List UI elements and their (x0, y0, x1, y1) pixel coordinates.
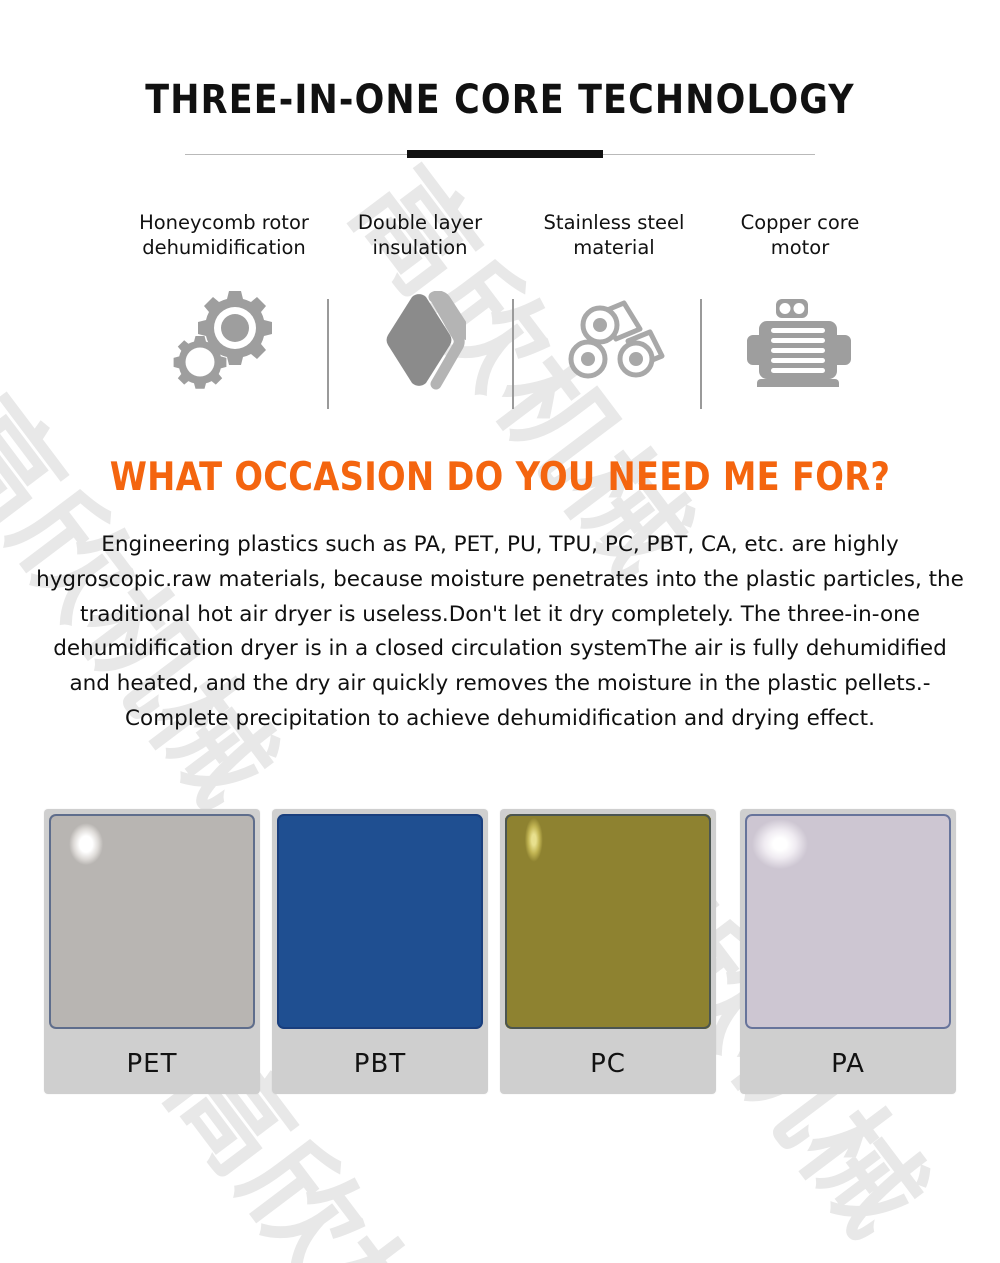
material-card-pbt[interactable]: PBT (272, 809, 488, 1094)
pellet-texture-pc (505, 814, 711, 1029)
feature-item-honeycomb-rotor: Honeycomb rotor dehumidification (104, 211, 344, 399)
occasion-heading: WHAT OCCASION DO YOU NEED ME FOR? (20, 455, 980, 500)
material-cards-row: PET PBT PC PA (0, 809, 1000, 1099)
stacked-pipes-icon (514, 287, 714, 399)
material-card-label: PBT (272, 1034, 488, 1094)
title-block: THREE-IN-ONE CORE TECHNOLOGY (0, 0, 1000, 159)
feature-item-copper-core-motor: Copper core motor (712, 211, 888, 399)
material-photo (745, 814, 951, 1029)
material-card-pa[interactable]: PA (740, 809, 956, 1094)
feature-label: Copper core motor (712, 211, 888, 261)
material-photo (49, 814, 255, 1029)
feature-item-double-layer-insulation: Double layer insulation (330, 211, 510, 399)
occasion-body-text: Engineering plastics such as PA, PET, PU… (35, 528, 965, 737)
feature-row: Honeycomb rotor dehumidification (0, 211, 1000, 423)
page-title: THREE-IN-ONE CORE TECHNOLOGY (15, 78, 985, 122)
page-content: THREE-IN-ONE CORE TECHNOLOGY Honeycomb r… (0, 0, 1000, 1099)
gears-icon (104, 287, 344, 399)
material-card-pc[interactable]: PC (500, 809, 716, 1094)
feature-label: Double layer insulation (330, 211, 510, 261)
layers-diamond-icon (330, 287, 510, 399)
feature-label: Honeycomb rotor dehumidification (104, 211, 344, 261)
material-card-label: PET (44, 1034, 260, 1094)
material-card-label: PC (500, 1034, 716, 1094)
pellet-texture-pbt (277, 814, 483, 1029)
electric-motor-icon (712, 287, 888, 399)
feature-label: Stainless steel material (514, 211, 714, 261)
material-photo (505, 814, 711, 1029)
feature-item-stainless-steel: Stainless steel material (514, 211, 714, 399)
title-rule-thick-bar (407, 150, 603, 158)
material-card-label: PA (740, 1034, 956, 1094)
material-photo (277, 814, 483, 1029)
title-underline-rule (185, 150, 815, 159)
material-card-pet[interactable]: PET (44, 809, 260, 1094)
pellet-texture-pet (49, 814, 255, 1029)
pellet-texture-pa (745, 814, 951, 1029)
